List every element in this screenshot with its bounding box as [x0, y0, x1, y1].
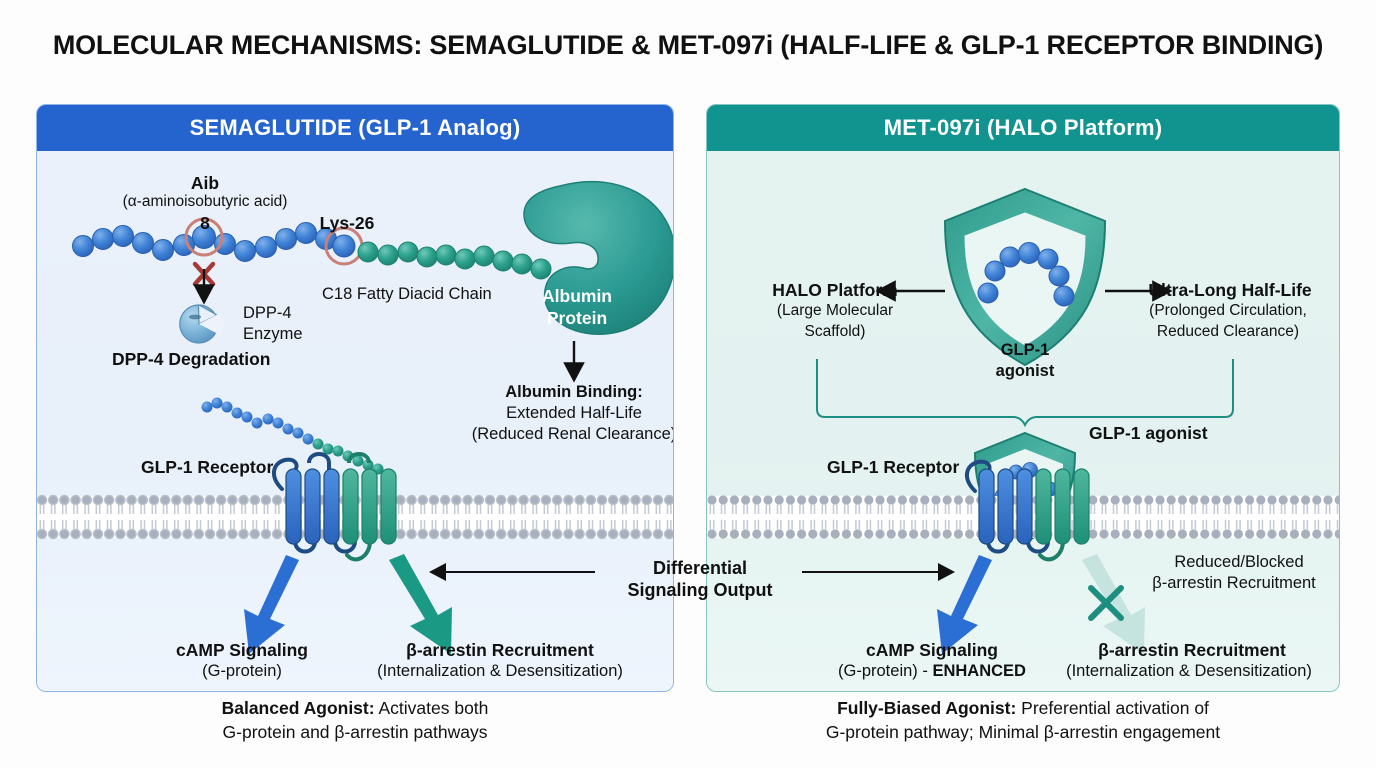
- left-caption-bold: Balanced Agonist:: [222, 698, 375, 718]
- ultralong-halflife-sub-line1: (Prolonged Circulation,: [1115, 302, 1340, 320]
- albumin-binding-line2: Extended Half-Life: [444, 404, 674, 423]
- camp-sub-enhanced: ENHANCED: [932, 662, 1026, 680]
- albumin-protein-label-line2: Protein: [507, 308, 647, 329]
- differential-signaling-line1: Differential: [600, 558, 800, 579]
- dpp4-enzyme-icon: [180, 305, 224, 343]
- arrestin-arrow-left: [389, 554, 452, 654]
- camp-signaling-sub-left: (G-protein): [147, 662, 337, 681]
- right-caption-line2: G-protein pathway; Minimal β-arrestin en…: [706, 722, 1340, 743]
- arrestin-sub-right: (Internalization & Desensitization): [1029, 662, 1340, 681]
- arrestin-title-left: β-arrestin Recruitment: [355, 640, 645, 661]
- albumin-binding-line3: (Reduced Renal Clearance): [434, 425, 674, 444]
- panel-semaglutide: SEMAGLUTIDE (GLP-1 Analog): [36, 104, 674, 692]
- differential-signaling-line2: Signaling Output: [590, 580, 810, 601]
- glp1-receptor-label-left: GLP-1 Receptor: [141, 457, 273, 478]
- aib-label: Aib: [115, 173, 295, 194]
- aib-position-number: 8: [165, 213, 245, 234]
- panel-met097i-header: MET-097i (HALO Platform): [707, 105, 1339, 151]
- camp-signaling-title-right: cAMP Signaling: [837, 640, 1027, 661]
- left-caption-line1: Balanced Agonist: Activates both: [36, 698, 674, 719]
- blocked-arrestin-line1: Reduced/Blocked: [1139, 553, 1339, 572]
- shield-glp1-label-line1: GLP-1: [957, 341, 1093, 360]
- fatty-chain-label: C18 Fatty Diacid Chain: [322, 285, 492, 304]
- aib-sublabel: (α-aminoisobutyric acid): [85, 193, 325, 211]
- left-caption-line2: G-protein and β-arrestin pathways: [36, 722, 674, 743]
- halo-platform-sub-line2: Scaffold): [735, 323, 935, 341]
- dpp4-enzyme-label-line2: Enzyme: [243, 325, 303, 344]
- camp-signaling-sub-right: (G-protein) - ENHANCED: [817, 662, 1047, 681]
- glp1-agonist-label-right: GLP-1 agonist: [1089, 423, 1208, 444]
- lys26-label: Lys-26: [299, 213, 395, 234]
- ultralong-halflife-title: Ultra-Long Half-Life: [1125, 280, 1335, 301]
- fatty-acid-chain: [358, 242, 551, 279]
- right-caption-bold: Fully-Biased Agonist:: [837, 698, 1016, 718]
- panel-semaglutide-header: SEMAGLUTIDE (GLP-1 Analog): [37, 105, 673, 151]
- arrestin-arrow-right-faded: [1082, 554, 1145, 654]
- dpp4-enzyme-label-line1: DPP-4: [243, 304, 292, 323]
- panel-met097i: MET-097i (HALO Platform): [706, 104, 1340, 692]
- camp-signaling-title-left: cAMP Signaling: [147, 640, 337, 661]
- ultralong-halflife-sub-line2: Reduced Clearance): [1115, 323, 1340, 341]
- panel-semaglutide-body: Aib (α-aminoisobutyric acid) 8 Lys-26 DP…: [37, 151, 673, 691]
- albumin-protein-label-line1: Albumin: [507, 286, 647, 307]
- albumin-binding-title: Albumin Binding:: [444, 383, 674, 402]
- blocked-arrestin-line2: β-arrestin Recruitment: [1127, 574, 1340, 593]
- page-title: MOLECULAR MECHANISMS: SEMAGLUTIDE & MET-…: [0, 30, 1376, 61]
- shield-glp1-label-line2: agonist: [957, 362, 1093, 381]
- halo-platform-title: HALO Platform: [745, 280, 925, 301]
- left-caption-rest: Activates both: [375, 698, 489, 718]
- right-caption-rest: Preferential activation of: [1016, 698, 1209, 718]
- dpp4-degradation-label: DPP-4 Degradation: [112, 349, 271, 370]
- met097i-graphics: [707, 151, 1340, 692]
- arrestin-sub-left: (Internalization & Desensitization): [337, 662, 663, 681]
- halo-platform-sub-line1: (Large Molecular: [735, 302, 935, 320]
- right-caption-line1: Fully-Biased Agonist: Preferential activ…: [706, 698, 1340, 719]
- glp1-receptor-label-right: GLP-1 Receptor: [827, 457, 959, 478]
- arrestin-title-right: β-arrestin Recruitment: [1047, 640, 1337, 661]
- halo-shield-large: [945, 189, 1105, 365]
- camp-sub-normal: (G-protein) -: [838, 662, 932, 680]
- panel-met097i-body: GLP-1 agonist HALO Platform (Large Molec…: [707, 151, 1339, 691]
